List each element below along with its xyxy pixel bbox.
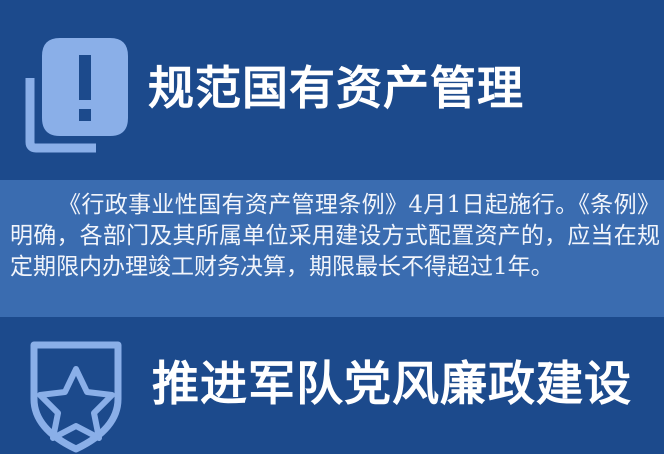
body-paragraph: 《行政事业性国有资产管理条例》4月1日起施行。《条例》明确，各部门及其所属单位采… <box>10 190 660 283</box>
poster-canvas: 规范国有资产管理 《行政事业性国有资产管理条例》4月1日起施行。《条例》明确，各… <box>0 0 664 454</box>
bottom-headline-row: 推进军队党风廉政建设 <box>0 317 664 454</box>
top-headline-text: 规范国有资产管理 <box>148 55 648 121</box>
bottom-headline-text: 推进军队党风廉政建设 <box>152 353 664 415</box>
shield-star-icon <box>26 337 126 454</box>
top-headline-row: 规范国有资产管理 <box>0 0 664 180</box>
document-exclamation-icon <box>18 38 128 156</box>
